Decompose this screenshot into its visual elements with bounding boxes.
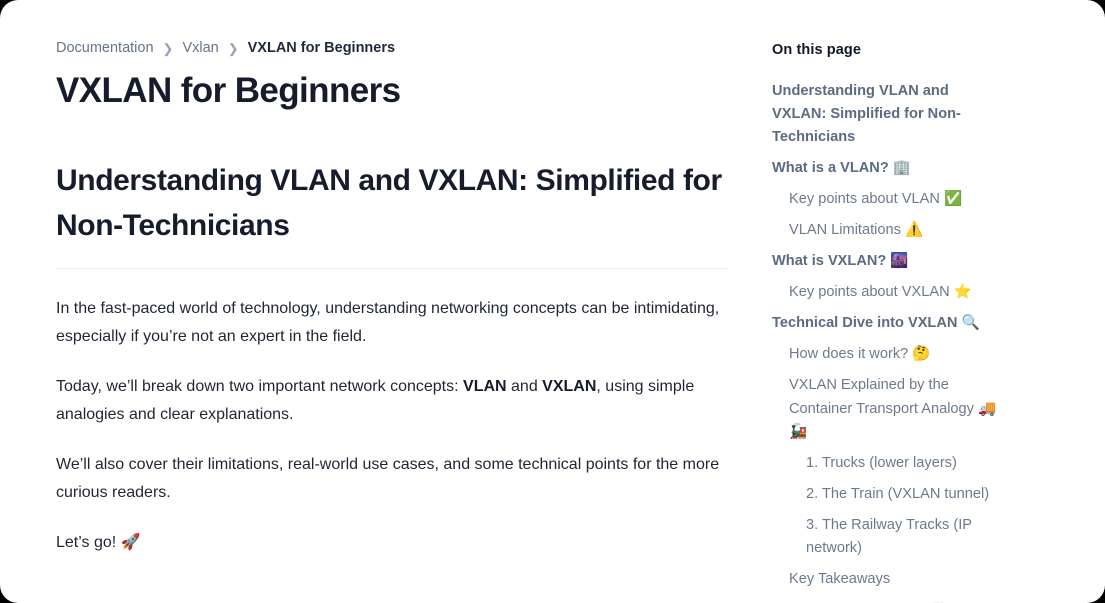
section-heading: Understanding VLAN and VXLAN: Simplified… bbox=[56, 158, 728, 269]
breadcrumb-item-vxlan[interactable]: Vxlan bbox=[182, 38, 218, 58]
toc-item-3-the-railway-tracks-ip-network[interactable]: 3. The Railway Tracks (IP network) bbox=[772, 514, 1000, 560]
breadcrumb-item-vxlan-for-beginners: VXLAN for Beginners bbox=[248, 38, 395, 58]
page-layout: Documentation❯Vxlan❯VXLAN for Beginners … bbox=[0, 0, 1105, 603]
paragraph-text: Today, we’ll break down two important ne… bbox=[56, 378, 463, 395]
table-of-contents: Understanding VLAN and VXLAN: Simplified… bbox=[772, 80, 1000, 603]
toc-item-what-is-a-vlan[interactable]: What is a VLAN? 🏢 bbox=[772, 157, 1000, 180]
page-title: VXLAN for Beginners bbox=[56, 70, 728, 111]
paragraph-p3: We’ll also cover their limitations, real… bbox=[56, 451, 728, 507]
toc-item-key-points-about-vxlan[interactable]: Key points about VXLAN ⭐ bbox=[772, 281, 1000, 304]
toc-item-key-takeaways[interactable]: Key Takeaways bbox=[772, 568, 1000, 591]
on-this-page-sidebar: On this page Understanding VLAN and VXLA… bbox=[760, 0, 1105, 603]
paragraph-text: Let’s go! 🚀 bbox=[56, 534, 141, 551]
paragraph-p1: In the fast-paced world of technology, u… bbox=[56, 295, 728, 351]
documentation-page-card: Documentation❯Vxlan❯VXLAN for Beginners … bbox=[0, 0, 1105, 603]
toc-item-1-trucks-lower-layers[interactable]: 1. Trucks (lower layers) bbox=[772, 452, 1000, 475]
toc-item-understanding-vlan-and-vxlan-simplified-for-non-technicians[interactable]: Understanding VLAN and VXLAN: Simplified… bbox=[772, 80, 1000, 149]
breadcrumb-separator-icon: ❯ bbox=[163, 42, 174, 55]
breadcrumb: Documentation❯Vxlan❯VXLAN for Beginners bbox=[56, 38, 728, 58]
paragraph-text: and bbox=[507, 378, 543, 395]
emphasis-term: VLAN bbox=[463, 378, 507, 395]
article-content: Documentation❯Vxlan❯VXLAN for Beginners … bbox=[0, 0, 760, 557]
paragraph-text: We’ll also cover their limitations, real… bbox=[56, 456, 719, 501]
breadcrumb-item-documentation[interactable]: Documentation bbox=[56, 38, 154, 58]
toc-item-vxlan-explained-by-the-container-transport-analogy[interactable]: VXLAN Explained by the Container Transpo… bbox=[772, 374, 1000, 443]
toc-item-key-points-about-vlan[interactable]: Key points about VLAN ✅ bbox=[772, 188, 1000, 211]
toc-item-technical-dive-into-vxlan[interactable]: Technical Dive into VXLAN 🔍 bbox=[772, 312, 1000, 335]
toc-item-vlan-limitations[interactable]: VLAN Limitations ⚠️ bbox=[772, 219, 1000, 242]
paragraph-p4: Let’s go! 🚀 bbox=[56, 529, 728, 557]
article-body: In the fast-paced world of technology, u… bbox=[56, 295, 728, 557]
toc-item-2-the-train-vxlan-tunnel[interactable]: 2. The Train (VXLAN tunnel) bbox=[772, 483, 1000, 506]
emphasis-term: VXLAN bbox=[542, 378, 596, 395]
on-this-page-title: On this page bbox=[772, 42, 1045, 58]
paragraph-p2: Today, we’ll break down two important ne… bbox=[56, 373, 728, 429]
toc-item-real-world-use-cases[interactable]: Real-World Use Cases 🏭 bbox=[772, 599, 1000, 603]
breadcrumb-separator-icon: ❯ bbox=[228, 42, 239, 55]
toc-item-how-does-it-work[interactable]: How does it work? 🤔 bbox=[772, 343, 1000, 366]
paragraph-text: In the fast-paced world of technology, u… bbox=[56, 300, 719, 345]
toc-item-what-is-vxlan[interactable]: What is VXLAN? 🌆 bbox=[772, 250, 1000, 273]
